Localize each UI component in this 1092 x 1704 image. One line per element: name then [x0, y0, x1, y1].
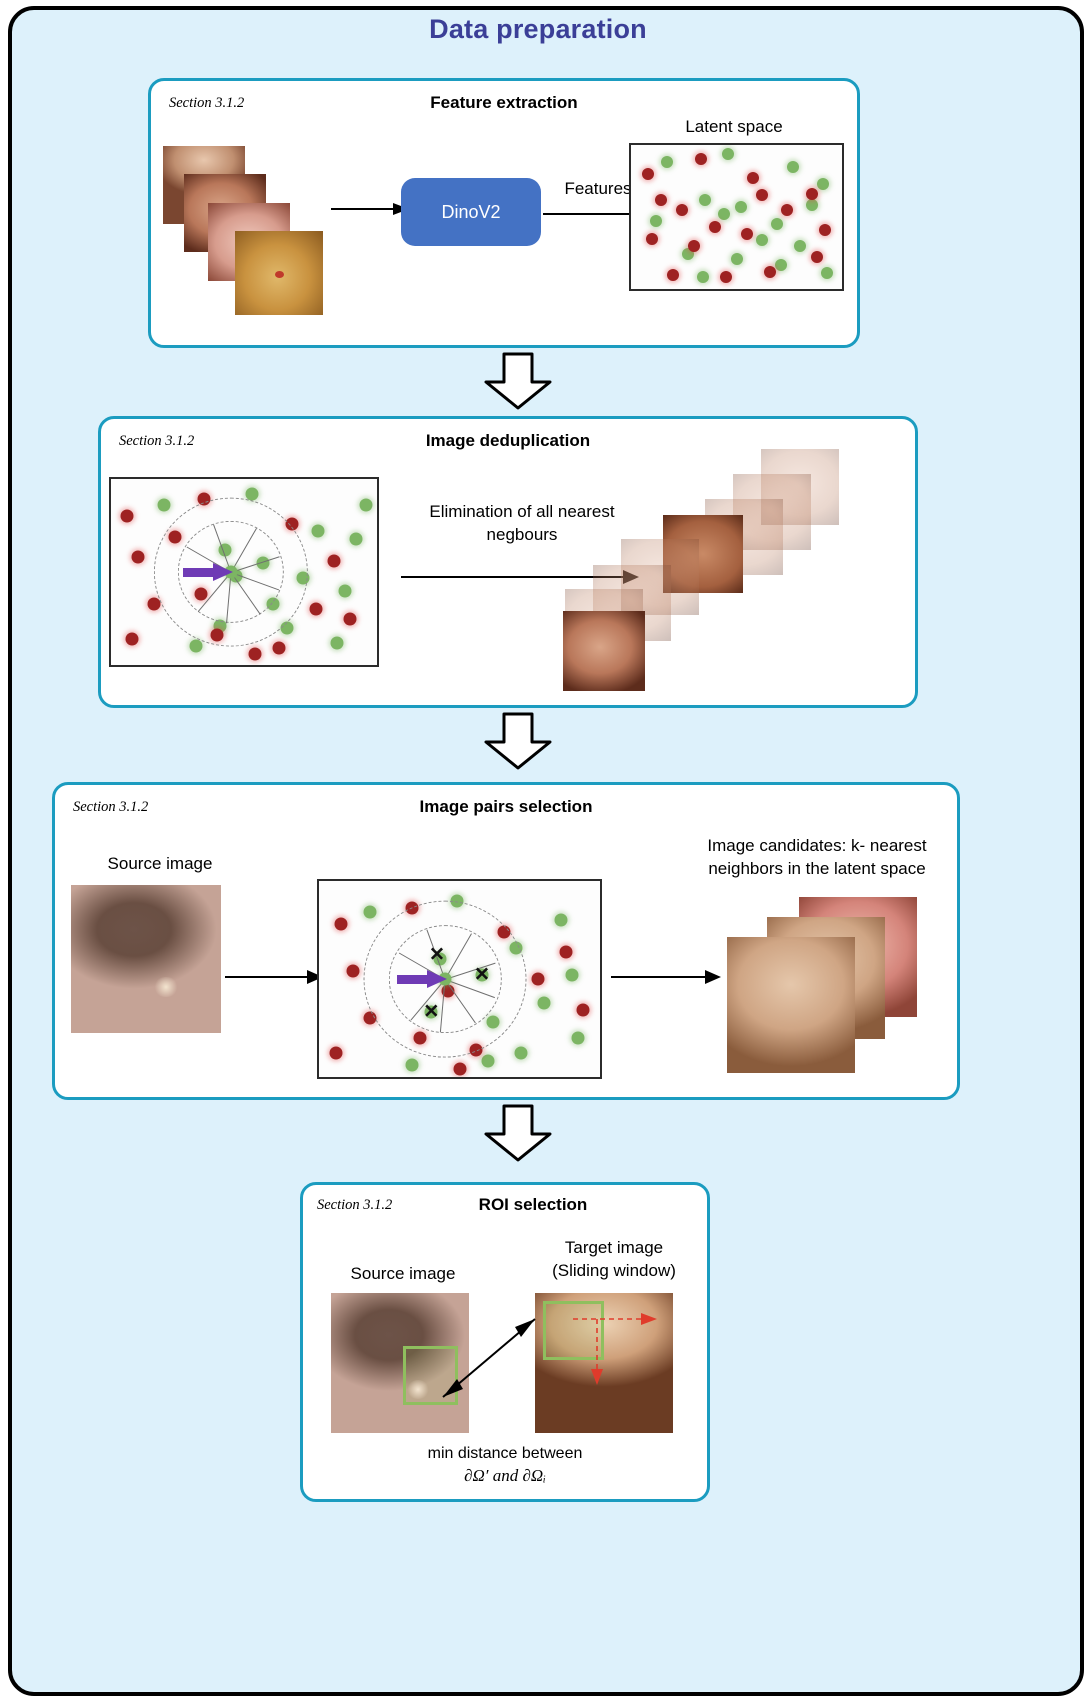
scatter-point-red — [655, 194, 667, 206]
flow-arrow-down — [482, 1104, 554, 1162]
model-box-dinov2: DinoV2 — [401, 178, 541, 246]
scatter-point-red — [120, 510, 133, 523]
roi-caption-line2: ∂Ω′ and ∂Ωᵢ — [303, 1465, 707, 1488]
scatter-point-red — [709, 221, 721, 233]
arrow-source-to-scatter — [225, 967, 325, 987]
scatter-point-red — [756, 189, 768, 201]
scatter-point-red — [811, 251, 823, 263]
scatter-latent-space-pairs-selection: ✕✕✕ — [317, 879, 602, 1079]
candidate-image-tile — [727, 937, 855, 1073]
scatter-point-green — [661, 156, 673, 168]
neighbor-x-mark: ✕ — [474, 966, 490, 985]
scatter-point-red — [328, 554, 341, 567]
scatter-point-green — [565, 969, 578, 982]
scatter-point-green — [699, 194, 711, 206]
scatter-point-red — [806, 188, 818, 200]
scatter-point-green — [775, 259, 787, 271]
target-image-label-roi: Target image (Sliding window) — [521, 1237, 707, 1283]
scatter-point-green — [312, 525, 325, 538]
scatter-point-green — [331, 636, 344, 649]
scatter-point-green — [756, 234, 768, 246]
query-point-arrow — [397, 968, 449, 990]
panel-title-roi-selection: ROI selection — [331, 1195, 735, 1215]
panel-roi-selection: Section 3.1.2 ROI selection Source image… — [300, 1182, 710, 1502]
scatter-point-green — [515, 1047, 528, 1060]
scatter-point-red — [126, 632, 139, 645]
deduped-image-tile — [563, 611, 645, 691]
scatter-point-green — [817, 178, 829, 190]
image-candidates-label: Image candidates: k- nearest neighbors i… — [673, 835, 961, 881]
scatter-point-green — [806, 199, 818, 211]
scatter-point-red — [676, 204, 688, 216]
panel-title-feature-extraction: Feature extraction — [151, 93, 857, 113]
scatter-point-green — [360, 499, 373, 512]
scatter-point-red — [309, 603, 322, 616]
scatter-point-green — [722, 148, 734, 160]
scatter-point-red — [453, 1063, 466, 1076]
sample-image-tile — [235, 231, 323, 315]
scatter-point-red — [560, 945, 573, 958]
neighbor-x-mark: ✕ — [429, 946, 445, 965]
scatter-point-red — [695, 153, 707, 165]
latent-space-label: Latent space — [619, 116, 849, 139]
scatter-point-green — [821, 267, 833, 279]
scatter-point-red — [720, 271, 732, 283]
roi-caption-line1: min distance between — [303, 1443, 707, 1465]
scatter-latent-space-deduplication — [109, 477, 379, 667]
arrow-scatter-to-candidates — [611, 967, 723, 987]
scatter-point-red — [642, 168, 654, 180]
figure-root: Data preparation Section 3.1.2 Feature e… — [0, 0, 1092, 1704]
scatter-point-green — [771, 218, 783, 230]
scatter-point-green — [554, 914, 567, 927]
scatter-point-red — [532, 973, 545, 986]
scatter-point-green — [697, 271, 709, 283]
panel-title-image-pairs-selection: Image pairs selection — [55, 797, 957, 817]
scatter-point-red — [747, 172, 759, 184]
panel-title-image-deduplication: Image deduplication — [101, 431, 915, 451]
sliding-window-direction-arrows — [535, 1293, 673, 1433]
scatter-latent-space-feature-extraction — [629, 143, 844, 291]
scatter-point-red — [577, 1004, 590, 1017]
scatter-point-red — [329, 1047, 342, 1060]
roi-target-image-tile — [535, 1293, 673, 1433]
panel-image-pairs-selection: Section 3.1.2 Image pairs selection Sour… — [52, 782, 960, 1100]
scatter-point-red — [819, 224, 831, 236]
scatter-point-red — [272, 642, 285, 655]
scatter-point-green — [158, 499, 171, 512]
scatter-point-red — [248, 647, 261, 660]
scatter-point-red — [344, 612, 357, 625]
scatter-point-green — [363, 906, 376, 919]
scatter-point-green — [731, 253, 743, 265]
source-image-label-pairs: Source image — [65, 853, 255, 876]
scatter-point-green — [349, 532, 362, 545]
scatter-point-green — [794, 240, 806, 252]
roi-match-connector — [423, 1305, 553, 1415]
query-point-arrow — [183, 561, 235, 583]
panel-image-deduplication: Section 3.1.2 Image deduplication Elimin… — [98, 416, 918, 708]
scatter-point-green — [190, 640, 203, 653]
scatter-point-green — [718, 208, 730, 220]
source-image-label-roi: Source image — [313, 1263, 493, 1286]
scatter-point-green — [405, 1059, 418, 1072]
elimination-label: Elimination of all nearest negbours — [397, 501, 647, 547]
scatter-point-red — [688, 240, 700, 252]
scatter-point-red — [741, 228, 753, 240]
neighbor-x-mark: ✕ — [423, 1003, 439, 1022]
scatter-point-green — [650, 215, 662, 227]
scatter-point-red — [764, 266, 776, 278]
scatter-point-red — [667, 269, 679, 281]
flow-arrow-down — [482, 352, 554, 410]
scatter-point-green — [787, 161, 799, 173]
scatter-point-red — [335, 918, 348, 931]
flow-arrow-down — [482, 712, 554, 770]
scatter-point-red — [131, 551, 144, 564]
scatter-point-green — [481, 1055, 494, 1068]
panel-feature-extraction: Section 3.1.2 Feature extraction DinoV2 … — [148, 78, 860, 348]
scatter-point-red — [346, 965, 359, 978]
source-image-tile — [71, 885, 221, 1033]
scatter-point-green — [571, 1031, 584, 1044]
scatter-point-green — [537, 996, 550, 1009]
scatter-point-green — [339, 584, 352, 597]
scatter-point-red — [781, 204, 793, 216]
page-title: Data preparation — [0, 14, 1076, 45]
model-label: DinoV2 — [441, 202, 500, 223]
scatter-point-green — [735, 201, 747, 213]
scatter-point-red — [646, 233, 658, 245]
arrow-images-to-model — [331, 199, 411, 219]
